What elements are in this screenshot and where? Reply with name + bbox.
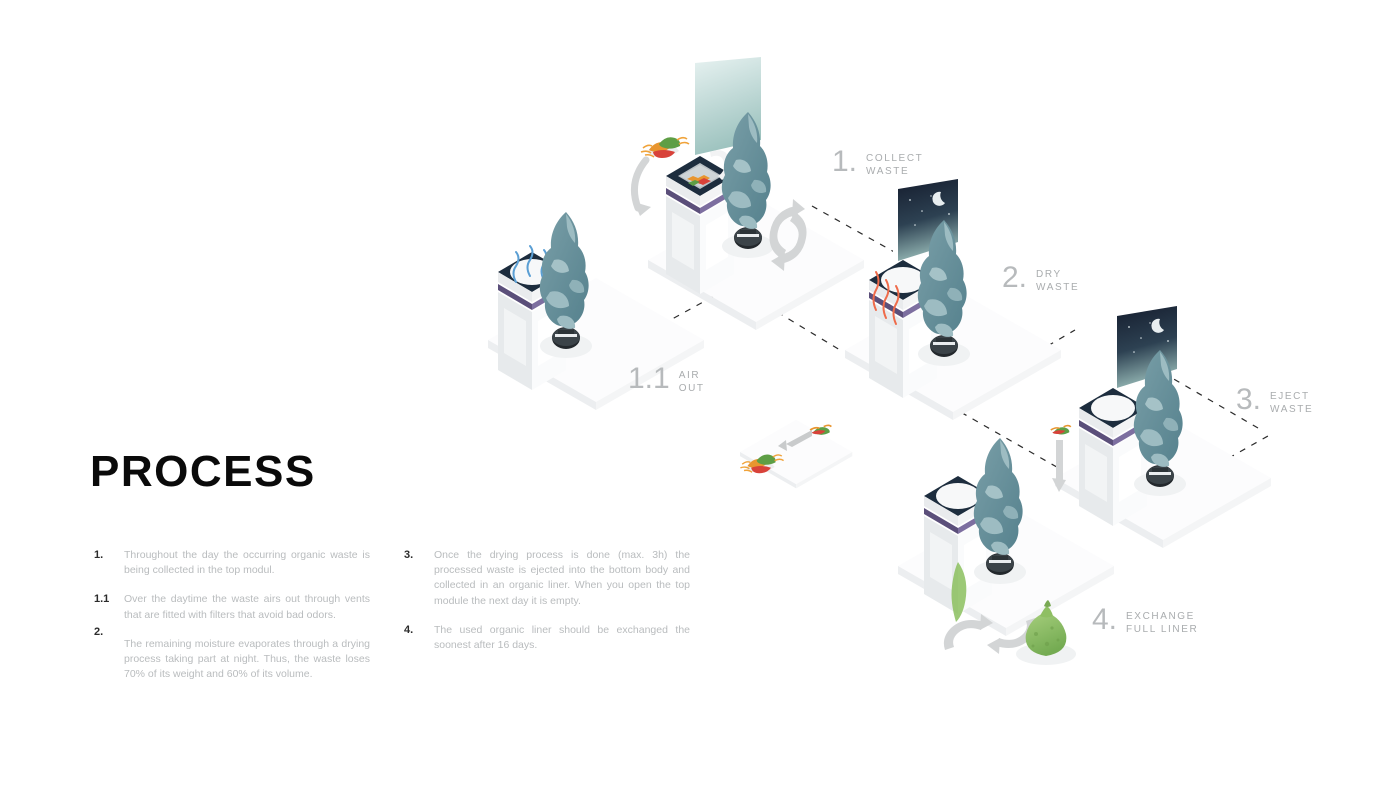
waste-bin-unit <box>666 150 734 294</box>
description-number: 1.1 <box>90 592 124 622</box>
description-text: Over the daytime the waste airs out thro… <box>124 592 370 622</box>
description-item: 1. Throughout the day the occurring orga… <box>90 548 370 578</box>
description-number: 2. <box>90 625 124 641</box>
step-number: 1. <box>832 148 857 177</box>
description-item: 4. The used organic liner should be exch… <box>400 623 690 653</box>
step-title: COLLECT WASTE <box>866 153 923 178</box>
step-title: EXCHANGE FULL LINER <box>1126 611 1198 636</box>
step-label-air-out: 1.1 AIR OUT <box>628 365 705 395</box>
description-column-right: 3. Once the drying process is done (max.… <box>400 548 690 667</box>
description-text: The used organic liner should be exchang… <box>434 623 690 653</box>
step-number: 2. <box>1002 264 1027 293</box>
food-scraps <box>1051 426 1071 435</box>
description-number: 4. <box>400 623 434 653</box>
page-title: PROCESS <box>90 450 316 494</box>
description-text: Throughout the day the occurring organic… <box>124 548 370 578</box>
step-number: 3. <box>1236 386 1261 415</box>
waste-shrink-inset <box>740 420 852 489</box>
step-title: EJECT WASTE <box>1270 391 1313 416</box>
step-title: AIR OUT <box>679 370 705 395</box>
step-label-collect-waste: 1. COLLECT WASTE <box>832 148 923 178</box>
step-number: 4. <box>1092 606 1117 635</box>
curved-arrow-into-bin-icon <box>634 160 651 216</box>
description-column-left: 1. Throughout the day the occurring orga… <box>90 548 370 697</box>
step-label-exchange-liner: 4. EXCHANGE FULL LINER <box>1092 606 1198 636</box>
description-item: 2. The remaining moisture evaporates thr… <box>90 637 370 683</box>
description-text: The remaining moisture evaporates throug… <box>124 637 370 683</box>
description-item: 1.1 Over the daytime the waste airs out … <box>90 592 370 622</box>
scene-collect-waste <box>634 50 864 330</box>
step-number: 1.1 <box>628 365 670 394</box>
step-title: DRY WASTE <box>1036 269 1079 294</box>
infographic-canvas: PROCESS 1. Throughout the day the occurr… <box>0 0 1400 788</box>
description-text: Once the drying process is done (max. 3h… <box>434 548 690 609</box>
description-number: 3. <box>400 548 434 609</box>
step-label-eject-waste: 3. EJECT WASTE <box>1236 386 1313 416</box>
food-scraps <box>641 137 689 158</box>
description-number: 1. <box>90 548 124 578</box>
description-item: 3. Once the drying process is done (max.… <box>400 548 690 609</box>
step-label-dry-waste: 2. DRY WASTE <box>1002 264 1079 294</box>
scene-eject-waste <box>1051 299 1271 548</box>
